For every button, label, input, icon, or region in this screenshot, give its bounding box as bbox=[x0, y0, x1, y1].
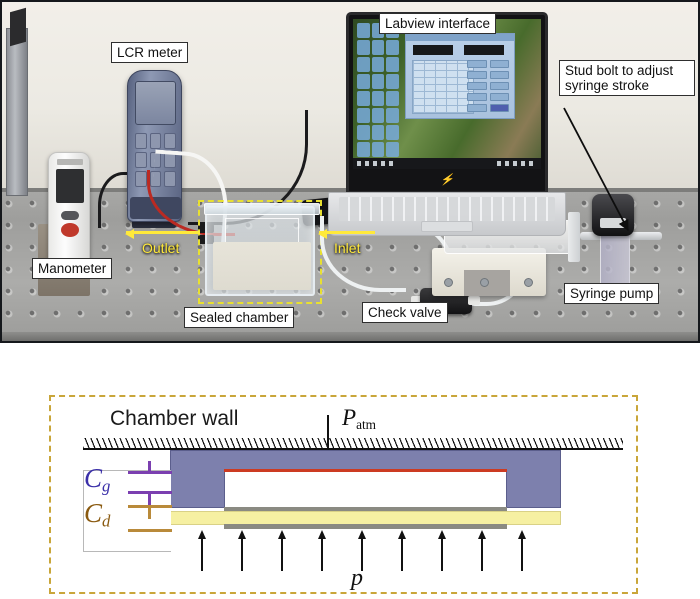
labview-readout-1 bbox=[413, 45, 453, 55]
patm-label: Patm bbox=[342, 405, 376, 433]
experimental-setup-photo: ⚡ Outlet Inlet LCR meter Labview interfa… bbox=[0, 0, 700, 343]
laptop-lid: ⚡ bbox=[346, 12, 548, 194]
cd-symbol: C bbox=[84, 498, 102, 528]
labview-control-panel[interactable] bbox=[467, 60, 509, 114]
patm-arrow-down bbox=[327, 415, 329, 449]
cg-stem-bottom bbox=[148, 493, 151, 505]
desktop-icons bbox=[355, 21, 401, 151]
cg-stem-top bbox=[148, 461, 151, 471]
sealed-chamber-roi-dashed-box bbox=[198, 200, 322, 304]
labview-readout-2 bbox=[464, 45, 504, 55]
cg-label: Cg bbox=[84, 463, 110, 497]
laptop-bezel-chin: ⚡ bbox=[349, 169, 545, 191]
labview-window[interactable] bbox=[405, 33, 515, 119]
cg-symbol: C bbox=[84, 463, 102, 493]
manometer-logo bbox=[57, 159, 83, 165]
cd-plate-bottom bbox=[128, 529, 172, 532]
pressure-arrow-1 bbox=[201, 538, 203, 571]
p-label: p bbox=[351, 565, 363, 592]
lcr-meter-display bbox=[135, 81, 176, 125]
layer-dielectric bbox=[170, 511, 561, 525]
pressure-arrow-7 bbox=[441, 538, 443, 571]
outlet-flow-arrow bbox=[126, 231, 200, 234]
layer-air-cavity bbox=[225, 472, 506, 508]
wall-shadow bbox=[10, 8, 26, 47]
callout-labview-interface: Labview interface bbox=[379, 13, 496, 34]
stud-bolt-leader-arrow bbox=[558, 106, 642, 246]
manometer-power-button bbox=[61, 223, 79, 237]
cd-label: Cd bbox=[84, 498, 110, 532]
laptop-trackpad[interactable] bbox=[421, 221, 473, 232]
cd-stem bbox=[148, 507, 151, 519]
device-cross-section bbox=[170, 450, 561, 528]
device-cross-section-schematic: Chamber wall Patm bbox=[49, 395, 638, 594]
check-valve-port-right bbox=[468, 296, 480, 305]
callout-lcr-meter: LCR meter bbox=[111, 42, 188, 63]
manometer-device bbox=[48, 152, 90, 272]
laptop-screen bbox=[353, 19, 541, 169]
layer-pillar-left bbox=[170, 469, 225, 508]
layer-red-electrode bbox=[224, 469, 507, 472]
layer-pillar-right bbox=[506, 469, 561, 508]
chamber-wall-title: Chamber wall bbox=[110, 407, 238, 431]
pressure-arrow-6 bbox=[401, 538, 403, 571]
pressure-arrow-2 bbox=[241, 538, 243, 571]
cg-plate-top bbox=[128, 471, 172, 474]
optical-table-front-edge bbox=[2, 332, 698, 341]
pressure-arrow-3 bbox=[281, 538, 283, 571]
capacitor-legend-box: Cg Cd bbox=[83, 470, 171, 552]
patm-symbol: P bbox=[342, 405, 356, 430]
labview-titlebar bbox=[406, 34, 514, 41]
outlet-label: Outlet bbox=[142, 240, 179, 256]
manometer-display bbox=[56, 169, 84, 203]
patm-subscript: atm bbox=[356, 417, 376, 432]
syringe-pump-frame bbox=[432, 248, 546, 296]
figure-root: ⚡ Outlet Inlet LCR meter Labview interfa… bbox=[0, 0, 700, 599]
pump-bolt-3 bbox=[524, 278, 533, 287]
pressure-arrow-8 bbox=[481, 538, 483, 571]
labview-data-grid bbox=[412, 60, 474, 114]
callout-syringe-pump: Syringe pump bbox=[564, 283, 659, 304]
callout-check-valve: Check valve bbox=[362, 302, 448, 323]
layer-gray-electrode-lower bbox=[224, 524, 507, 529]
callout-sealed-chamber: Sealed chamber bbox=[184, 307, 294, 328]
pump-bolt-1 bbox=[444, 278, 453, 287]
pressure-arrow-9 bbox=[521, 538, 523, 571]
layer-top-plate bbox=[170, 450, 561, 469]
callout-manometer: Manometer bbox=[32, 258, 112, 279]
inlet-label: Inlet bbox=[334, 240, 360, 256]
laptop-base bbox=[328, 192, 566, 236]
laptop-keyboard[interactable] bbox=[339, 197, 555, 221]
cd-subscript: d bbox=[102, 512, 110, 531]
callout-stud-bolt: Stud bolt to adjust syringe stroke bbox=[559, 60, 695, 96]
hp-logo-icon: ⚡ bbox=[440, 173, 454, 186]
windows-taskbar[interactable] bbox=[353, 158, 541, 169]
pump-bolt-2 bbox=[480, 278, 489, 287]
pressure-arrow-4 bbox=[321, 538, 323, 571]
manometer-button bbox=[61, 211, 79, 220]
cg-subscript: g bbox=[102, 477, 110, 496]
wall-post-fixture bbox=[6, 28, 28, 196]
inlet-flow-arrow bbox=[319, 231, 375, 234]
